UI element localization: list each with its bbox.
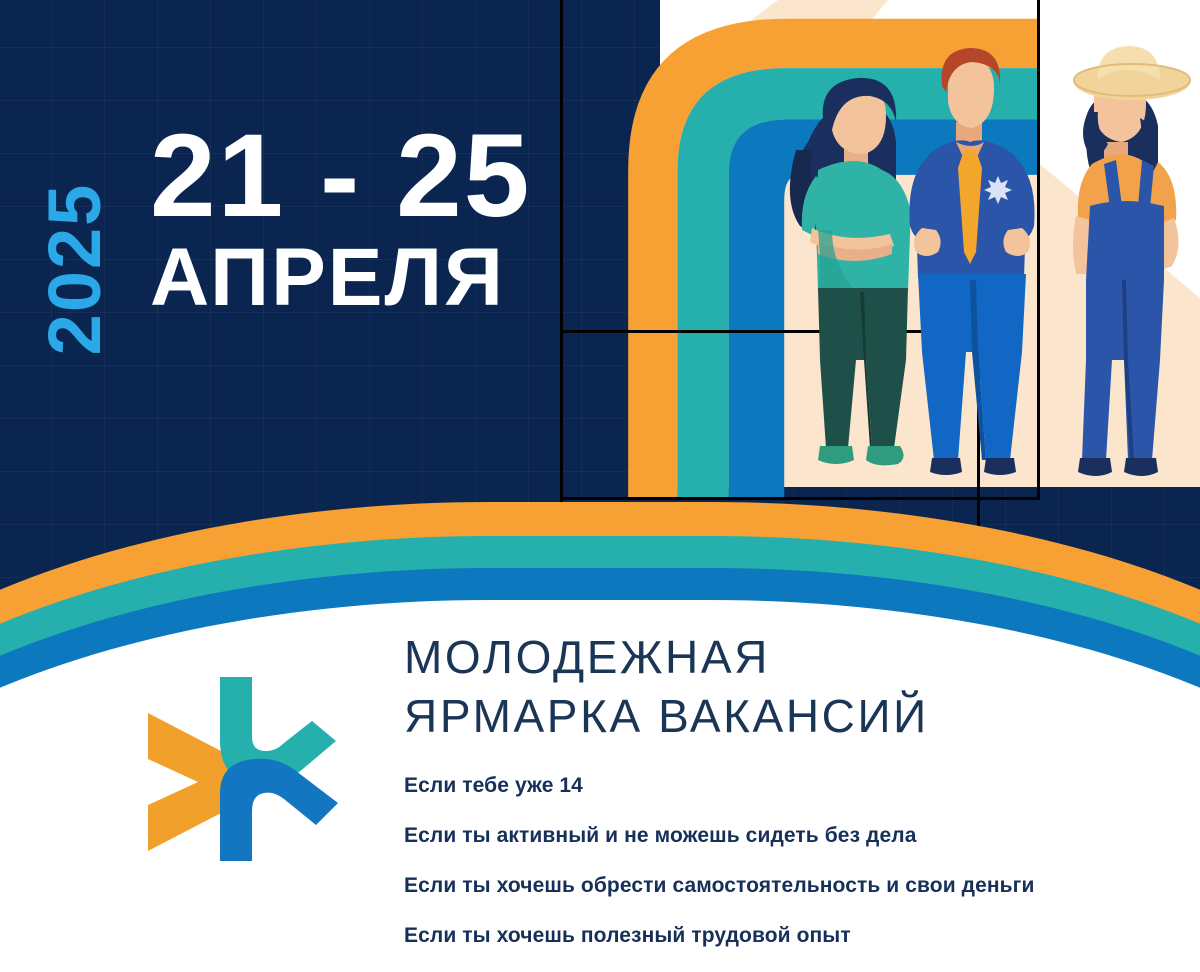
year-label: 2025 (38, 144, 112, 394)
poster-canvas: 2025 21 - 25 АПРЕЛЯ (0, 0, 1200, 972)
day-range: 21 - 25 (150, 122, 531, 231)
figure-young-woman-teal (790, 78, 912, 465)
page-title: МОЛОДЕЖНАЯ ЯРМАРКА ВАКАНСИЙ (404, 628, 929, 746)
figure-young-woman-hat (1073, 46, 1190, 476)
headline-line-2: ЯРМАРКА ВАКАНСИЙ (404, 687, 929, 746)
badge-star-icon (984, 176, 1012, 204)
list-item: Если ты хочешь обрести самостоятельность… (404, 875, 1035, 896)
criteria-list: Если тебе уже 14 Если ты активный и не м… (404, 775, 1035, 946)
fair-logo-icon (140, 665, 360, 865)
list-item: Если ты хочешь полезный трудовой опыт (404, 925, 1035, 946)
figure-young-man-blue (909, 48, 1034, 475)
headline-line-1: МОЛОДЕЖНАЯ (404, 628, 929, 687)
list-item: Если ты активный и не можешь сидеть без … (404, 825, 1035, 846)
date-block: 21 - 25 АПРЕЛЯ (150, 122, 531, 319)
month-label: АПРЕЛЯ (150, 237, 531, 319)
three-young-people-illustration (760, 30, 1200, 488)
list-item: Если тебе уже 14 (404, 775, 1035, 796)
logo-blue-hook (220, 759, 338, 861)
